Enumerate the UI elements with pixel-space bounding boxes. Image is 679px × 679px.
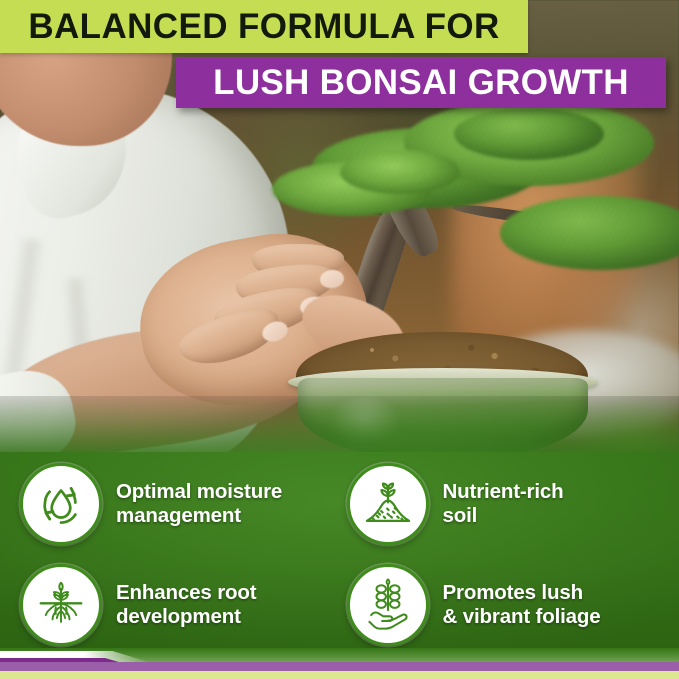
footer-lime-bar (0, 671, 679, 679)
bonsai-foliage-pad (340, 150, 460, 194)
product-infographic: Optimal moisture management Nutrient-ric… (0, 0, 679, 679)
headline-line-2: LUSH BONSAI GROWTH (213, 65, 629, 100)
feature-item-optimal-moisture: Optimal moisture management (20, 456, 347, 551)
hand-holding-foliage-icon (347, 564, 429, 646)
feature-label: Enhances root development (116, 581, 256, 629)
feature-item-nutrient-rich-soil: Nutrient-rich soil (347, 456, 674, 551)
bonsai-foliage-pad (454, 108, 604, 160)
feature-label: Optimal moisture management (116, 480, 282, 528)
headline-line-1: BALANCED FORMULA FOR (28, 9, 499, 44)
headline-banner-primary: BALANCED FORMULA FOR (0, 0, 528, 53)
water-drop-recycle-icon (20, 463, 102, 545)
headline-banner-secondary: LUSH BONSAI GROWTH (176, 57, 666, 108)
feature-label: Promotes lush & vibrant foliage (443, 581, 601, 629)
feature-item-promotes-lush-foliage: Promotes lush & vibrant foliage (347, 557, 674, 652)
soil-mound-sprout-icon (347, 463, 429, 545)
feature-label: Nutrient-rich soil (443, 480, 564, 528)
footer-bars (0, 645, 679, 679)
plant-roots-icon (20, 564, 102, 646)
feature-item-enhances-root-development: Enhances root development (20, 557, 347, 652)
footer-purple-bar (0, 662, 679, 671)
feature-list: Optimal moisture management Nutrient-ric… (0, 452, 679, 652)
